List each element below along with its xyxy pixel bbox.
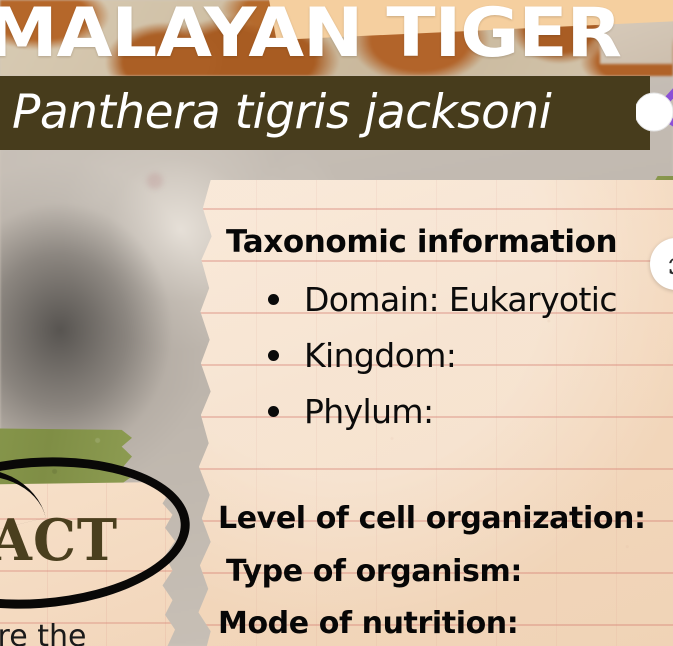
fact-label: FACT — [0, 506, 136, 573]
bullet-icon — [268, 406, 279, 417]
field-level-of-cell-organization: Level of cell organization: — [218, 500, 646, 538]
taxonomic-information-heading: Taxonomic information — [226, 222, 617, 262]
field-type-of-organism: Type of organism: — [226, 553, 522, 591]
node-circle — [636, 93, 673, 131]
taxonomy-item-kingdom: Kingdom: — [268, 338, 456, 374]
taxonomy-label-kingdom: Kingdom: — [304, 338, 456, 374]
bullet-icon — [268, 350, 279, 361]
scientific-name: Panthera tigris jacksoni — [12, 76, 672, 150]
node-graph-svg — [636, 58, 673, 168]
page-title: MALAYAN TIGER — [0, 0, 673, 72]
taxonomy-label-domain: Domain: Eukaryotic — [304, 282, 617, 318]
taxonomy-label-phylum: Phylum: — [304, 394, 434, 430]
note-content: Taxonomic information Domain: Eukaryotic… — [196, 180, 673, 646]
bullet-icon — [268, 294, 279, 305]
node-graph-decoration — [636, 58, 673, 168]
taxonomy-item-domain: Domain: Eukaryotic — [268, 282, 617, 318]
infographic-canvas: MALAYAN TIGER Panthera tigris jacksoni T… — [0, 0, 673, 646]
badge-glyph-icon: ɔ — [668, 247, 673, 282]
taxonomy-item-phylum: Phylum: — [268, 394, 434, 430]
fact-partial-text: s are the — [0, 620, 214, 646]
field-mode-of-nutrition: Mode of nutrition: — [218, 605, 518, 643]
